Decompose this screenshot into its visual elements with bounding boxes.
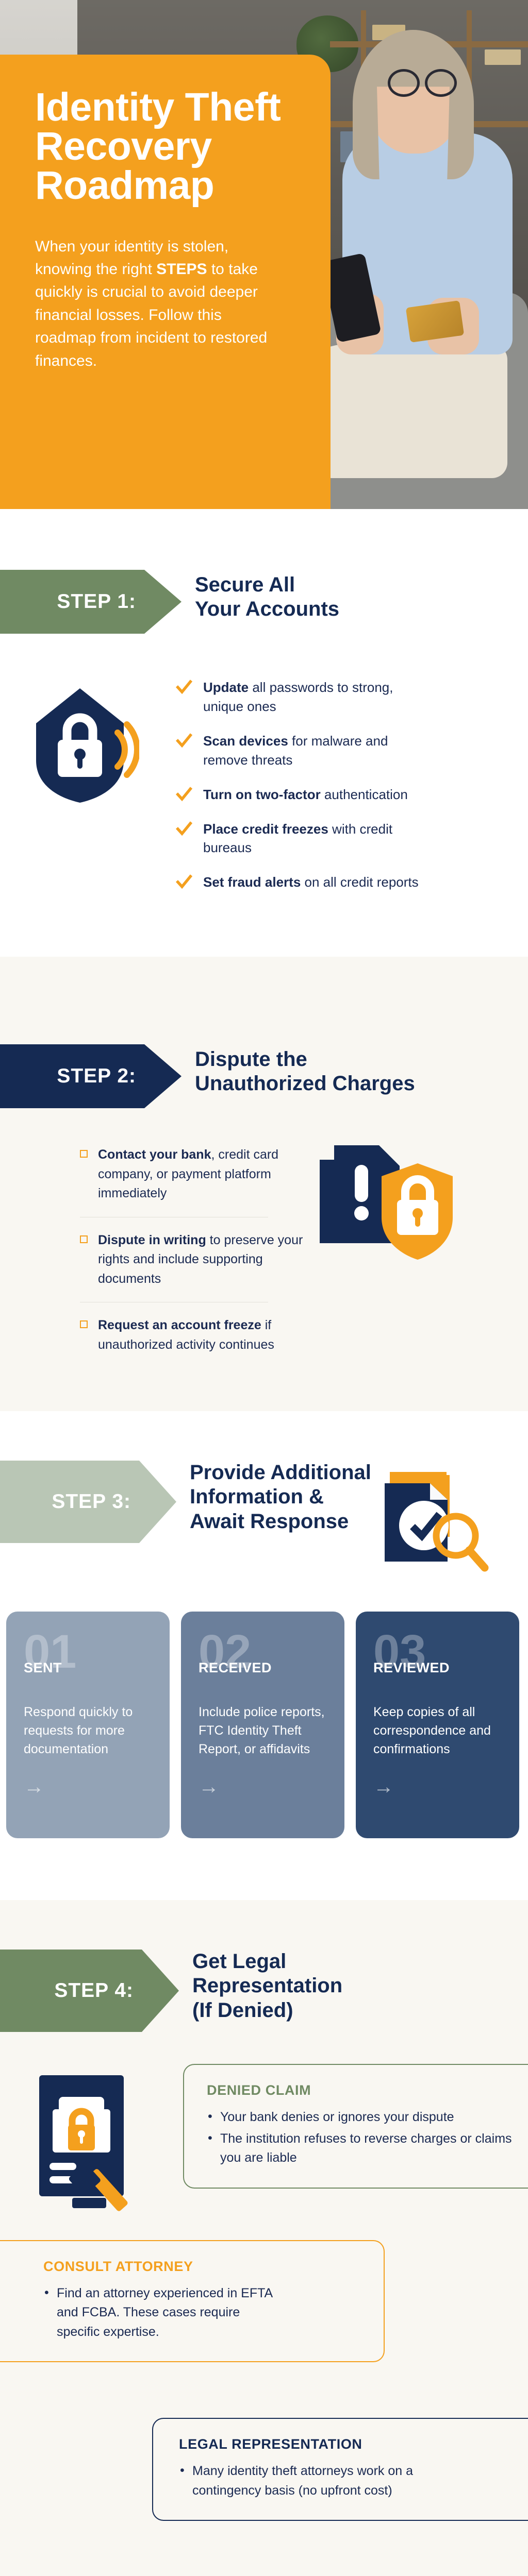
hero-section: Identity Theft Recovery Roadmap When you… <box>0 0 528 509</box>
list-item-bold: Scan devices <box>203 733 288 749</box>
status-card: 02 RECEIVED Include police reports, FTC … <box>181 1612 344 1838</box>
list-item: Place credit freezes with credit bureaus <box>175 820 425 858</box>
status-card: 01 SENT Respond quickly to requests for … <box>6 1612 170 1838</box>
arrow-tip-icon <box>142 1950 179 2032</box>
status-card: 03 REVIEWED Keep copies of all correspon… <box>356 1612 519 1838</box>
card-body: Keep copies of all correspondence and co… <box>373 1703 502 1759</box>
list-item: Many identity theft attorneys work on a … <box>179 2462 468 2500</box>
check-icon <box>175 733 193 748</box>
divider <box>80 1217 268 1217</box>
arrow-tip-icon <box>144 1044 181 1108</box>
check-icon <box>175 821 193 836</box>
check-icon <box>175 679 193 694</box>
card-label: RECEIVED <box>199 1660 327 1676</box>
list-item-bold: Update <box>203 680 249 695</box>
card-label: SENT <box>24 1660 152 1676</box>
step-3-badge-label: STEP 3: <box>52 1490 131 1513</box>
step-3-header: STEP 3: Provide Additional Information &… <box>0 1461 528 1574</box>
legal-representation-heading: LEGAL REPRESENTATION <box>179 2436 523 2452</box>
step-2-title: Dispute the Unauthorized Charges <box>181 1044 415 1096</box>
square-bullet-icon <box>80 1320 88 1328</box>
step-4-badge: STEP 4: <box>0 1950 179 2032</box>
square-bullet-icon <box>80 1150 88 1158</box>
arrow-tip-icon <box>139 1461 176 1543</box>
list-item-bold: Contact your bank <box>98 1147 211 1162</box>
list-item: Contact your bank, credit card company, … <box>80 1145 309 1204</box>
denied-claim-callout: DENIED CLAIM Your bank denies or ignores… <box>183 2064 528 2189</box>
step-3-badge: STEP 3: <box>0 1461 176 1543</box>
document-check-magnifier-icon <box>384 1464 492 1574</box>
arrow-right-icon: → <box>199 1776 327 1797</box>
gavel-lock-document-icon <box>36 2072 155 2214</box>
list-item-text: on all credit reports <box>301 874 418 890</box>
list-item-bold: Dispute in writing <box>98 1233 206 1247</box>
check-icon <box>175 874 193 889</box>
divider <box>80 1302 268 1302</box>
step-2-checklist: Contact your bank, credit card company, … <box>0 1145 309 1354</box>
list-item-bold: Place credit freezes <box>203 821 328 837</box>
consult-attorney-heading: CONSULT ATTORNEY <box>43 2259 363 2275</box>
arrow-tip-icon <box>144 570 181 634</box>
card-body: Respond quickly to requests for more doc… <box>24 1703 152 1759</box>
list-item: Scan devices for malware and remove thre… <box>175 732 425 770</box>
step-2-header: STEP 2: Dispute the Unauthorized Charges <box>0 1044 528 1108</box>
step-4-title: Get Legal Representation (If Denied) <box>179 1950 342 2023</box>
list-item: Your bank denies or ignores your dispute <box>207 2108 523 2127</box>
list-item: The institution refuses to reverse charg… <box>207 2129 523 2168</box>
alert-document-shield-icon <box>309 1145 454 1354</box>
list-item: Update all passwords to strong, unique o… <box>175 678 425 716</box>
list-item: Dispute in writing to preserve your righ… <box>80 1231 309 1289</box>
list-item-bold: Turn on two-factor <box>203 787 321 802</box>
shield-lock-icon <box>21 675 175 907</box>
card-body: Include police reports, FTC Identity The… <box>199 1703 327 1759</box>
step-4-badge-label: STEP 4: <box>54 1979 134 2002</box>
step-3-title: Provide Additional Information & Await R… <box>176 1461 371 1534</box>
step-1-badge-label: STEP 1: <box>57 590 136 613</box>
step-1-header: STEP 1: Secure All Your Accounts <box>0 570 528 634</box>
list-item-text: authentication <box>321 787 408 802</box>
step-2-badge: STEP 2: <box>0 1044 181 1108</box>
step-1-section: STEP 1: Secure All Your Accounts Update … <box>0 509 528 957</box>
arrow-right-icon: → <box>24 1776 152 1797</box>
square-bullet-icon <box>80 1235 88 1243</box>
step-1-title: Secure All Your Accounts <box>181 570 339 621</box>
page-title: Identity Theft Recovery Roadmap <box>35 88 294 206</box>
list-item: Set fraud alerts on all credit reports <box>175 873 425 892</box>
denied-claim-heading: DENIED CLAIM <box>207 2082 523 2098</box>
step-2-section: STEP 2: Dispute the Unauthorized Charges… <box>0 957 528 1411</box>
list-item: Request an account freeze if unauthorize… <box>80 1316 309 1354</box>
legal-representation-callout: LEGAL REPRESENTATION Many identity theft… <box>152 2418 528 2521</box>
hero-panel: Identity Theft Recovery Roadmap When you… <box>0 55 331 509</box>
hero-intro: When your identity is stolen, knowing th… <box>35 235 277 372</box>
card-label: REVIEWED <box>373 1660 502 1676</box>
list-item-bold: Request an account freeze <box>98 1318 261 1332</box>
list-item: Turn on two-factor authentication <box>175 785 425 804</box>
list-item-bold: Set fraud alerts <box>203 874 301 890</box>
consult-attorney-callout: CONSULT ATTORNEY Find an attorney experi… <box>0 2240 385 2363</box>
step-3-section: STEP 3: Provide Additional Information &… <box>0 1411 528 1900</box>
step-3-cards: 01 SENT Respond quickly to requests for … <box>0 1612 528 1838</box>
step-2-badge-label: STEP 2: <box>57 1065 136 1088</box>
arrow-right-icon: → <box>373 1776 502 1797</box>
step-4-section: STEP 4: Get Legal Representation (If Den… <box>0 1900 528 2576</box>
step-4-header: STEP 4: Get Legal Representation (If Den… <box>0 1950 528 2032</box>
hero-intro-bold: STEPS <box>156 261 207 278</box>
step-1-badge: STEP 1: <box>0 570 181 634</box>
check-icon <box>175 786 193 802</box>
step-1-checklist: Update all passwords to strong, unique o… <box>175 675 425 907</box>
list-item: Find an attorney experienced in EFTA and… <box>43 2284 275 2342</box>
